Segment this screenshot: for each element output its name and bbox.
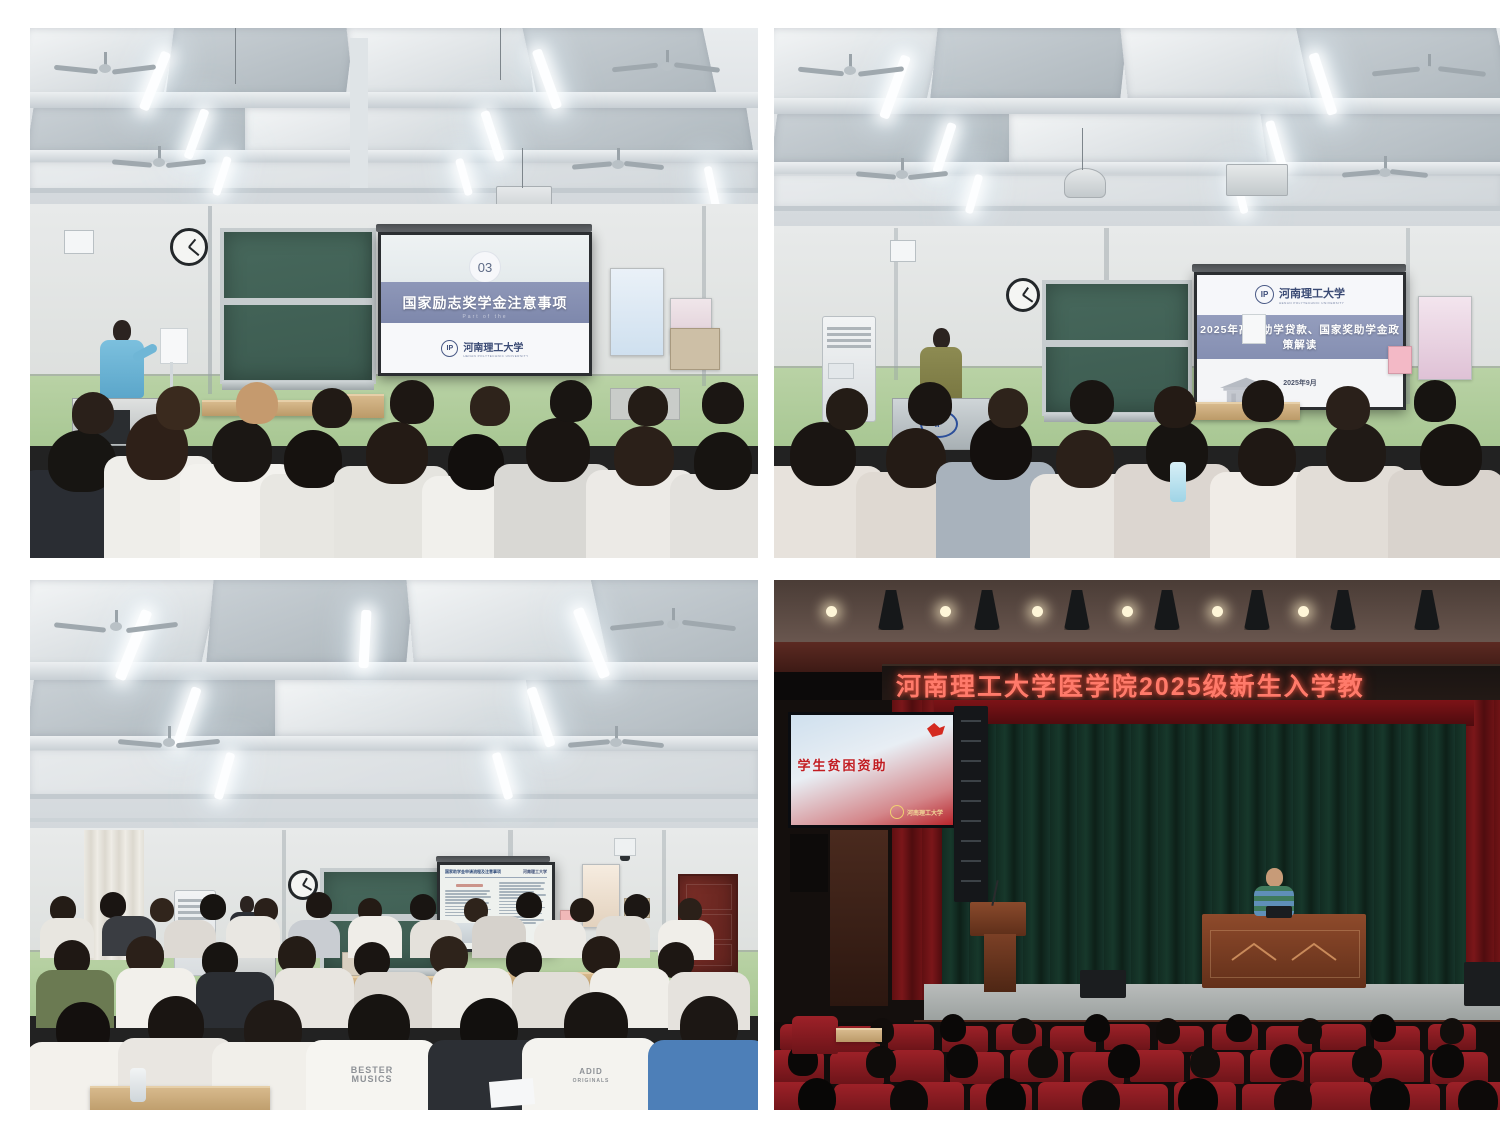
slide-title: 国家励志奖学金注意事项 <box>403 293 568 313</box>
blackboard <box>220 228 376 384</box>
laptop <box>1266 906 1292 918</box>
ceiling-fan <box>630 608 716 638</box>
ceiling-fan <box>814 54 886 80</box>
side-seat <box>792 1016 838 1054</box>
university-logo: IP 河南理工大学 HENAN POLYTECHNIC UNIVERSITY <box>441 339 528 358</box>
ceiling-downlight <box>1212 606 1223 617</box>
panel-top-right: IP 河南理工大学 HENAN POLYTECHNIC UNIVERSITY 2… <box>774 28 1500 558</box>
ceiling-fan <box>582 726 650 752</box>
slide-top-band: 03 <box>381 235 589 282</box>
water-bottle <box>130 1068 146 1102</box>
stage-monitor <box>1464 962 1500 1006</box>
audience: BESTER MUSICS ADID ORIGINALS <box>30 890 758 1110</box>
ceiling-fan <box>630 50 704 76</box>
ceiling-fan <box>1354 156 1416 180</box>
audience <box>774 378 1500 558</box>
ceiling-fan <box>70 52 140 78</box>
wall-clock <box>170 228 208 266</box>
wall-clock <box>1006 278 1040 312</box>
slide-content: 03 国家励志奖学金注意事项 Part of the IP 河南理工大学 HEN… <box>381 235 589 373</box>
ceiling-downlight <box>940 606 951 617</box>
logo-mark-icon: IP <box>1255 285 1274 304</box>
paper-sheet <box>489 1078 535 1108</box>
ceiling-fan <box>134 726 204 752</box>
logo-mark-icon: IP <box>441 340 458 357</box>
lectern-top <box>970 902 1026 936</box>
slide-title: 国家助学金申请流程及注意事项 <box>445 869 501 875</box>
ceiling-fan <box>126 146 192 170</box>
logo-text-cn: 河南理工大学 <box>1279 285 1345 301</box>
ceiling-downlight <box>1298 606 1309 617</box>
water-bottle <box>1170 462 1186 502</box>
projector <box>1064 168 1106 198</box>
wall-notice <box>670 328 720 370</box>
shirt-text: ADID ORIGINALS <box>550 1068 632 1085</box>
logo-text-cn: 河南理工大学 <box>463 339 528 354</box>
ceiling-fan <box>586 148 650 172</box>
panel-top-left: 03 国家励志奖学金注意事项 Part of the IP 河南理工大学 HEN… <box>30 28 758 558</box>
slide-logo-area: IP 河南理工大学 HENAN POLYTECHNIC UNIVERSITY <box>1197 275 1403 315</box>
presenter-desk <box>1202 914 1366 988</box>
audience <box>30 378 758 558</box>
curtain-valance <box>934 700 1474 726</box>
stage-monitor <box>1080 970 1126 998</box>
ceiling-fan <box>74 610 158 640</box>
desk-ornament <box>1210 938 1358 968</box>
panel-bottom-left: 国家助学金申请流程及注意事项 河南理工大学 <box>30 580 758 1110</box>
stage-curtain-red <box>1464 700 1500 1000</box>
electrical-box <box>614 838 636 856</box>
logo-text-cn: 河南理工大学 <box>523 869 547 875</box>
shirt-text: BESTER MUSICS <box>322 1066 422 1085</box>
slide-title: 2025年高校助学贷款、国家奖助学金政策解读 <box>1197 322 1403 352</box>
display-text: 学生贫困资助 <box>797 755 887 774</box>
wall-panel <box>830 830 888 1006</box>
projector <box>1226 164 1288 196</box>
panel-bottom-right: 河南理工大学医学院2025级新生入学教 学生贫困资助 河南理工大学 <box>774 580 1500 1110</box>
wall-poster <box>1418 296 1472 380</box>
screen-roller <box>376 224 592 232</box>
wall-recess <box>790 834 828 892</box>
slide-subtitle: Part of the <box>381 314 589 320</box>
university-logo: IP 河南理工大学 HENAN POLYTECHNIC UNIVERSITY <box>1255 285 1345 305</box>
logo-text-en: HENAN POLYTECHNIC UNIVERSITY <box>463 354 528 358</box>
screen-roller <box>1192 264 1406 272</box>
slide-title-band: 2025年高校助学贷款、国家奖助学金政策解读 <box>1197 315 1403 360</box>
wall-paper <box>160 328 188 364</box>
slide-footer: IP 河南理工大学 HENAN POLYTECHNIC UNIVERSITY <box>381 323 589 373</box>
display-logo: 河南理工大学 <box>890 805 943 819</box>
ceiling-fan <box>1390 54 1468 82</box>
auditorium-seating <box>774 1022 1500 1110</box>
slide-section-number: 03 <box>469 251 501 283</box>
slide-header: 国家助学金申请流程及注意事项 河南理工大学 <box>445 869 547 878</box>
ceiling-fan <box>870 158 934 182</box>
projection-screen[interactable]: 03 国家励志奖学金注意事项 Part of the IP 河南理工大学 HEN… <box>378 232 592 376</box>
logo-text-en: HENAN POLYTECHNIC UNIVERSITY <box>1279 301 1345 305</box>
equipment-rack <box>954 706 988 902</box>
electrical-box <box>890 240 916 262</box>
ceiling-downlight <box>1122 606 1133 617</box>
electrical-box <box>64 230 94 254</box>
slide-title-band: 国家励志奖学金注意事项 Part of the <box>381 282 589 323</box>
wall-paper <box>1242 314 1266 344</box>
wall-poster <box>610 268 664 356</box>
wall-notice <box>1388 346 1412 374</box>
led-banner-text: 河南理工大学医学院2025级新生入学教 <box>882 667 1365 703</box>
photo-collage: 03 国家励志奖学金注意事项 Part of the IP 河南理工大学 HEN… <box>0 0 1500 1125</box>
ceiling-downlight <box>826 606 837 617</box>
ceiling-downlight <box>1032 606 1043 617</box>
lectern-base <box>984 934 1016 992</box>
side-display[interactable]: 学生贫困资助 河南理工大学 <box>788 712 956 828</box>
